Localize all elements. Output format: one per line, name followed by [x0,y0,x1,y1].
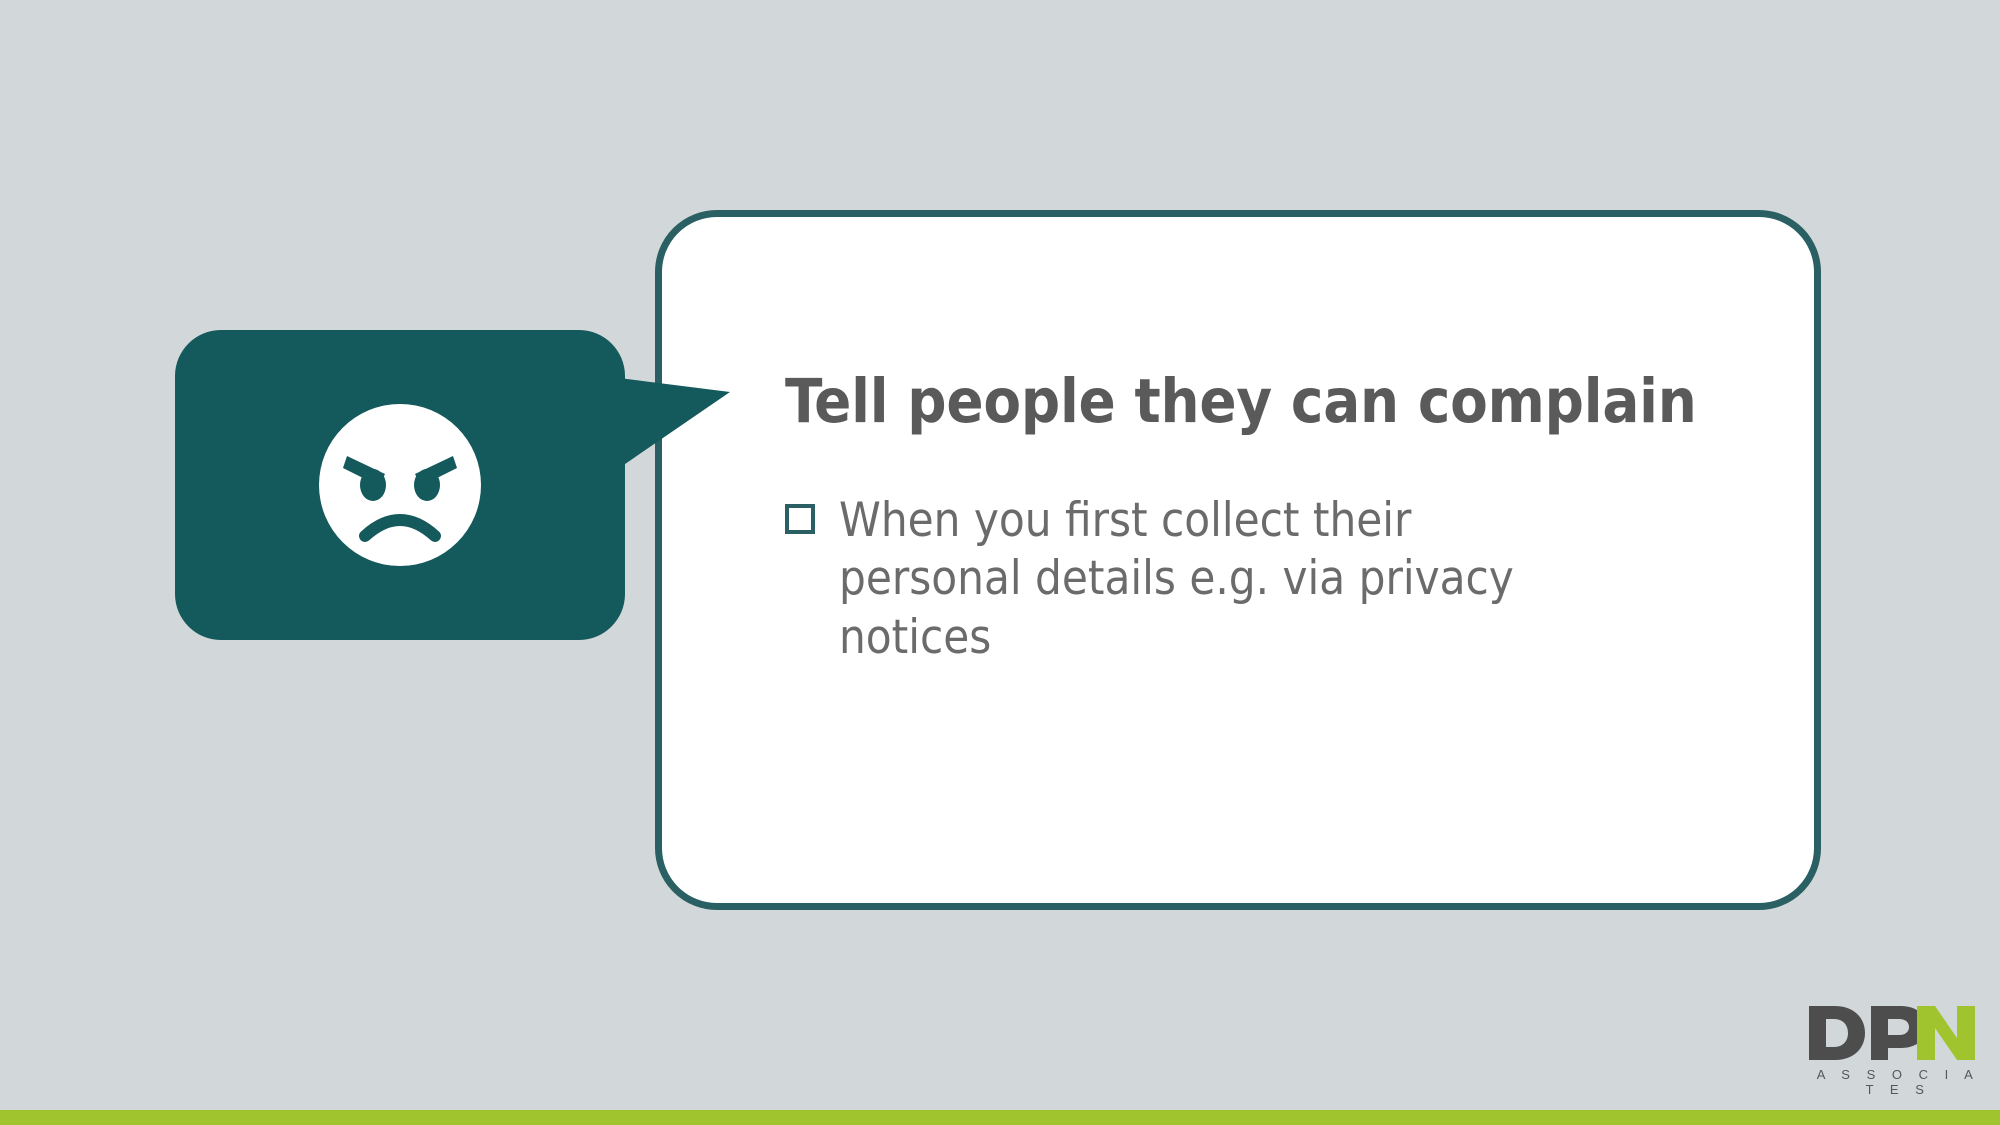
list-item: When you first collect their personal de… [785,492,1785,667]
logo-subtitle: A S S O C I A T E S [1806,1067,1990,1097]
angry-face-emoji [315,400,485,570]
page-title: Tell people they can complain [785,370,1785,434]
bubble-content: Tell people they can complain When you f… [785,370,1785,667]
dpn-logo-mark [1805,1002,1985,1064]
bottom-accent-bar [0,1110,2000,1125]
speech-bubble-tail [555,370,730,512]
open-square-bullet-icon [785,504,817,536]
bullet-list: When you first collect their personal de… [785,492,1785,667]
list-item-label: When you first collect their personal de… [839,492,1559,667]
slide-canvas: Tell people they can complain When you f… [0,0,2000,1125]
dpn-associates-logo: A S S O C I A T E S [1800,1002,1990,1097]
